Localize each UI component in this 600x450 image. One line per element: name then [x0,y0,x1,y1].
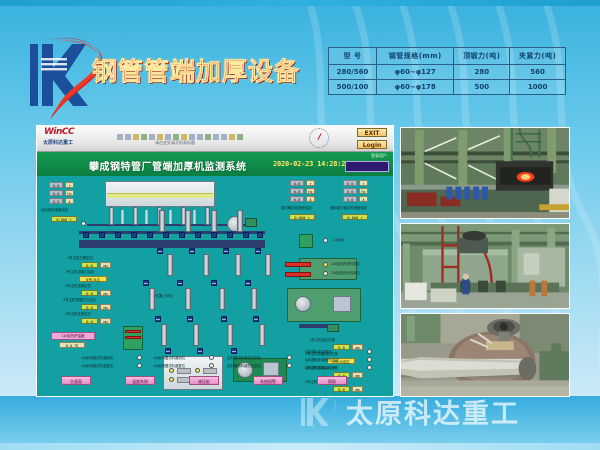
setpoint-field[interactable]: 0.000 r [289,214,315,220]
chart-icon[interactable] [197,134,203,140]
roller-unit [243,232,249,238]
valve-symbol [143,280,149,286]
support-column [133,207,138,225]
valve-symbol [157,248,163,254]
status-label: 后料摆动料道右位到位 [227,364,261,369]
readout-value: 0.0 [343,188,357,194]
support-column [205,207,210,225]
param-unit: mm [100,290,111,296]
param-value: 0.0 [81,262,98,268]
hydraulic-cylinder [235,254,241,276]
hydraulic-cylinder [185,210,191,232]
hydraulic-cylinder [167,254,173,276]
spec-cell: 500 [454,80,510,95]
hydraulic-cylinder [265,254,271,276]
top-accent-band [0,0,600,6]
watermark-text: 太原科达重工 [346,392,520,431]
readout-value: 0.0 [343,180,357,186]
status-label: 1#出料辊式料道到位 [81,356,113,361]
readout-unit: r [359,180,368,186]
readout-unit: A [65,198,74,204]
toolbar-icon-strip[interactable] [117,128,317,137]
readout-unit: Hz [306,188,315,194]
status-label: 后料摆动料道复位设定 [305,358,339,363]
help-icon[interactable] [229,134,235,140]
param-value: 0.0 [81,304,98,310]
roller-unit [115,232,121,238]
login-user-field[interactable] [345,161,389,172]
hmi-toolbar: WinCC 太原科达重工 请在此处填写报表标题 EXIT Login [37,126,393,152]
furnace-dial-icon [295,296,311,312]
readout-unit: r [65,182,74,188]
status-lamp [81,221,86,226]
roller-unit [211,232,217,238]
hydraulic-cylinder [203,254,209,276]
spec-cell: 280 [454,65,510,80]
hydraulic-cylinder [251,288,257,310]
param-label: 2号主机顶锻定位给定 [63,298,96,303]
furnace-control-panel [333,296,351,312]
valve-symbol [245,280,251,286]
exit-button[interactable]: EXIT [357,128,387,137]
watermark: 太原科达重工 [300,392,520,431]
hmi-screenshot-panel: WinCC 太原科达重工 请在此处填写报表标题 EXIT Login 攀成钢特管… [36,125,394,397]
roller-unit [83,232,89,238]
open-icon[interactable] [117,134,123,140]
refresh-icon[interactable] [221,134,227,140]
spec-cell: 500/100 [329,80,377,95]
roller-unit [163,232,169,238]
font-icon[interactable] [165,134,171,140]
hydraulic-cylinder [185,288,191,310]
hmi-status-area: 1#出料辊式料道到位 1#出料辊式料道复位 1#出料摆式料道到位 1#出料摆式料… [37,324,393,372]
param-value: 0.0 [81,290,98,296]
photo-mill-line-hot-pipe [400,127,570,219]
param-unit: mm [352,386,363,392]
valve-symbol [177,280,183,286]
hot-billet [285,262,311,267]
readout-value: 0.0 [290,188,304,194]
align-icon[interactable] [181,134,187,140]
roller-unit [257,232,263,238]
status-label: 1#出料辊式料道复位 [81,364,113,369]
spec-header-pipe-size: 钢管规格(mm) [377,48,454,65]
valve-symbol [223,248,229,254]
valve-symbol [211,280,217,286]
cylinder-rod [169,210,172,224]
print-icon[interactable] [125,134,131,140]
spec-header-model: 型 号 [329,48,377,65]
nav-button-help[interactable]: 帮助 [317,376,347,385]
hmi-system-title: 攀成钢特管厂管端加厚机监测系统 [89,158,247,173]
furnace-lamp-label: 1#加热炉出料到位 [331,271,360,276]
param-value: 0.0 [333,386,350,392]
readout-unit: Hz [359,188,368,194]
position-label: 1#料台 [333,238,345,243]
login-button[interactable]: Login [357,140,387,149]
readout-value: 0.0 [49,182,63,188]
spec-table: 型 号 钢管规格(mm) 顶锻力(吨) 夹紧力(吨) 280/560 φ60~φ… [328,47,566,95]
roller-unit [179,232,185,238]
param-unit: mm [352,372,363,378]
setpoint-field[interactable]: 0.000 r [51,216,77,222]
group-caption: 链式输送机速度给定 [281,206,312,211]
group-caption: 摆动辊式输送机速度给定 [330,206,367,211]
status-lamp [209,363,214,368]
spec-cell: φ60~φ178 [377,80,454,95]
param-label: 1号主机顶锻力给定 [65,270,94,275]
hydraulic-cylinder [149,288,155,310]
cylinder-rod [193,210,196,224]
spec-header-upset-force: 顶锻力(吨) [454,48,510,65]
keypad-lamp [169,377,174,382]
nav-button-system-alarms[interactable]: 系统报警 [253,376,283,385]
spec-cell: 280/560 [329,65,377,80]
param-label: 3号主机夹紧定位 [65,312,91,317]
nav-button-main-screen[interactable]: 主画面 [61,376,91,385]
hmi-clock: 2020-02-23 14:28:24 [273,160,349,168]
readout-unit: A [306,196,315,202]
gauge-icon [309,128,329,148]
readout-value: 0.0 [49,198,63,204]
valve-symbol [187,316,193,322]
spec-cell: 560 [510,65,566,80]
param-unit: mm [100,304,111,310]
spec-header-clamp-force: 夹紧力(吨) [510,48,566,65]
hot-billet [285,272,311,277]
nav-button-hydraulic[interactable]: 液压缸 [189,376,219,385]
furnace-lamp-label: 1#加热炉进料到位 [331,262,360,267]
login-user-label: 登录用户 [371,153,387,159]
valve-symbol [255,248,261,254]
param-unit: mm [100,262,111,268]
readout-value: 0.0 [290,180,304,186]
hot-pipe-strip [107,193,213,198]
report-title-hint: 请在此处填写报表标题 [155,140,195,146]
status-label: 后料摆动料道左位到位 [227,356,261,361]
param-value: 0号/0点 [79,276,107,282]
status-lamp [209,355,214,360]
spec-cell: φ60~φ127 [377,65,454,80]
table-row: 500/100 φ60~φ178 500 1000 [329,80,566,95]
valve-symbol [221,316,227,322]
photo-pipe-end-closeup [400,313,570,397]
cylinder-rod [145,210,148,224]
hydraulic-cylinder [237,210,243,232]
status-label: 后料摆动料道 0.0 秒 [305,366,336,371]
readout-unit: Hz [65,190,74,196]
status-lamp [323,238,328,243]
spec-table-header-row: 型 号 钢管规格(mm) 顶锻力(吨) 夹紧力(吨) [329,48,566,65]
status-label: 后料摆动料道复位 [305,350,332,355]
status-label: 1#出料摆式料道复位 [153,364,185,369]
drive-motor-icon [245,218,257,227]
cylinder-rod [121,210,124,224]
bottom-accent-band [0,443,600,450]
status-lamp [137,355,142,360]
readout-value: 0.0 [343,196,357,202]
roller-unit [195,232,201,238]
hydraulic-cylinder [219,288,225,310]
readout-unit: r [306,180,315,186]
bold-icon[interactable] [173,134,179,140]
export-icon[interactable] [213,134,219,140]
readout-value: 0.0 [49,190,63,196]
status-lamp [137,363,142,368]
status-lamp [323,271,328,276]
status-lamp [323,262,328,267]
roller-unit [99,232,105,238]
spec-cell: 1000 [510,80,566,95]
support-column [109,207,114,225]
readout-unit: A [359,196,368,202]
param-label: 2号主机顶锻定位 [65,284,91,289]
status-lamp [367,349,372,354]
photo-workshop-machine [400,223,570,309]
zoom-icon[interactable] [133,134,139,140]
roller-unit [131,232,137,238]
valve-symbol [189,248,195,254]
table-icon[interactable] [189,134,195,140]
group-caption: 后料电机速度给定 [41,208,68,213]
param-label: 1号主机左模定位 [67,256,93,261]
roller-row [79,240,265,248]
status-label: 1#出料摆式料道到位 [153,356,185,361]
sort-icon[interactable] [149,134,155,140]
setpoint-field[interactable]: 0.000 r [342,214,368,220]
status-lamp [367,357,372,362]
nav-button-temp-system[interactable]: 温度系统 [125,376,155,385]
valve-symbol [155,316,161,322]
readout-value: 0.0 [290,196,304,202]
paint-icon[interactable] [157,134,163,140]
kd-monogram-watermark [300,393,340,431]
grid-icon[interactable] [205,134,211,140]
roller-unit [227,232,233,238]
page-title: 钢管管端加厚设备 [92,52,300,88]
furnace-gate [299,234,313,248]
filter-icon[interactable] [141,134,147,140]
status-lamp [367,365,372,370]
roller-unit [147,232,153,238]
hydraulic-cylinder [211,210,217,232]
company-subtitle: 太原科达重工 [43,139,107,146]
table-row: 280/560 φ60~φ127 280 560 [329,65,566,80]
status-lamp [287,363,292,368]
search-icon[interactable] [237,134,243,140]
hydraulic-cylinder [159,210,165,232]
valve-symbol [253,316,259,322]
hmi-title-bar: 攀成钢特管厂管端加厚机监测系统 2020-02-23 14:28:24 登录用户 [37,152,393,176]
wincc-logo: WinCC [44,127,106,138]
status-lamp [287,355,292,360]
